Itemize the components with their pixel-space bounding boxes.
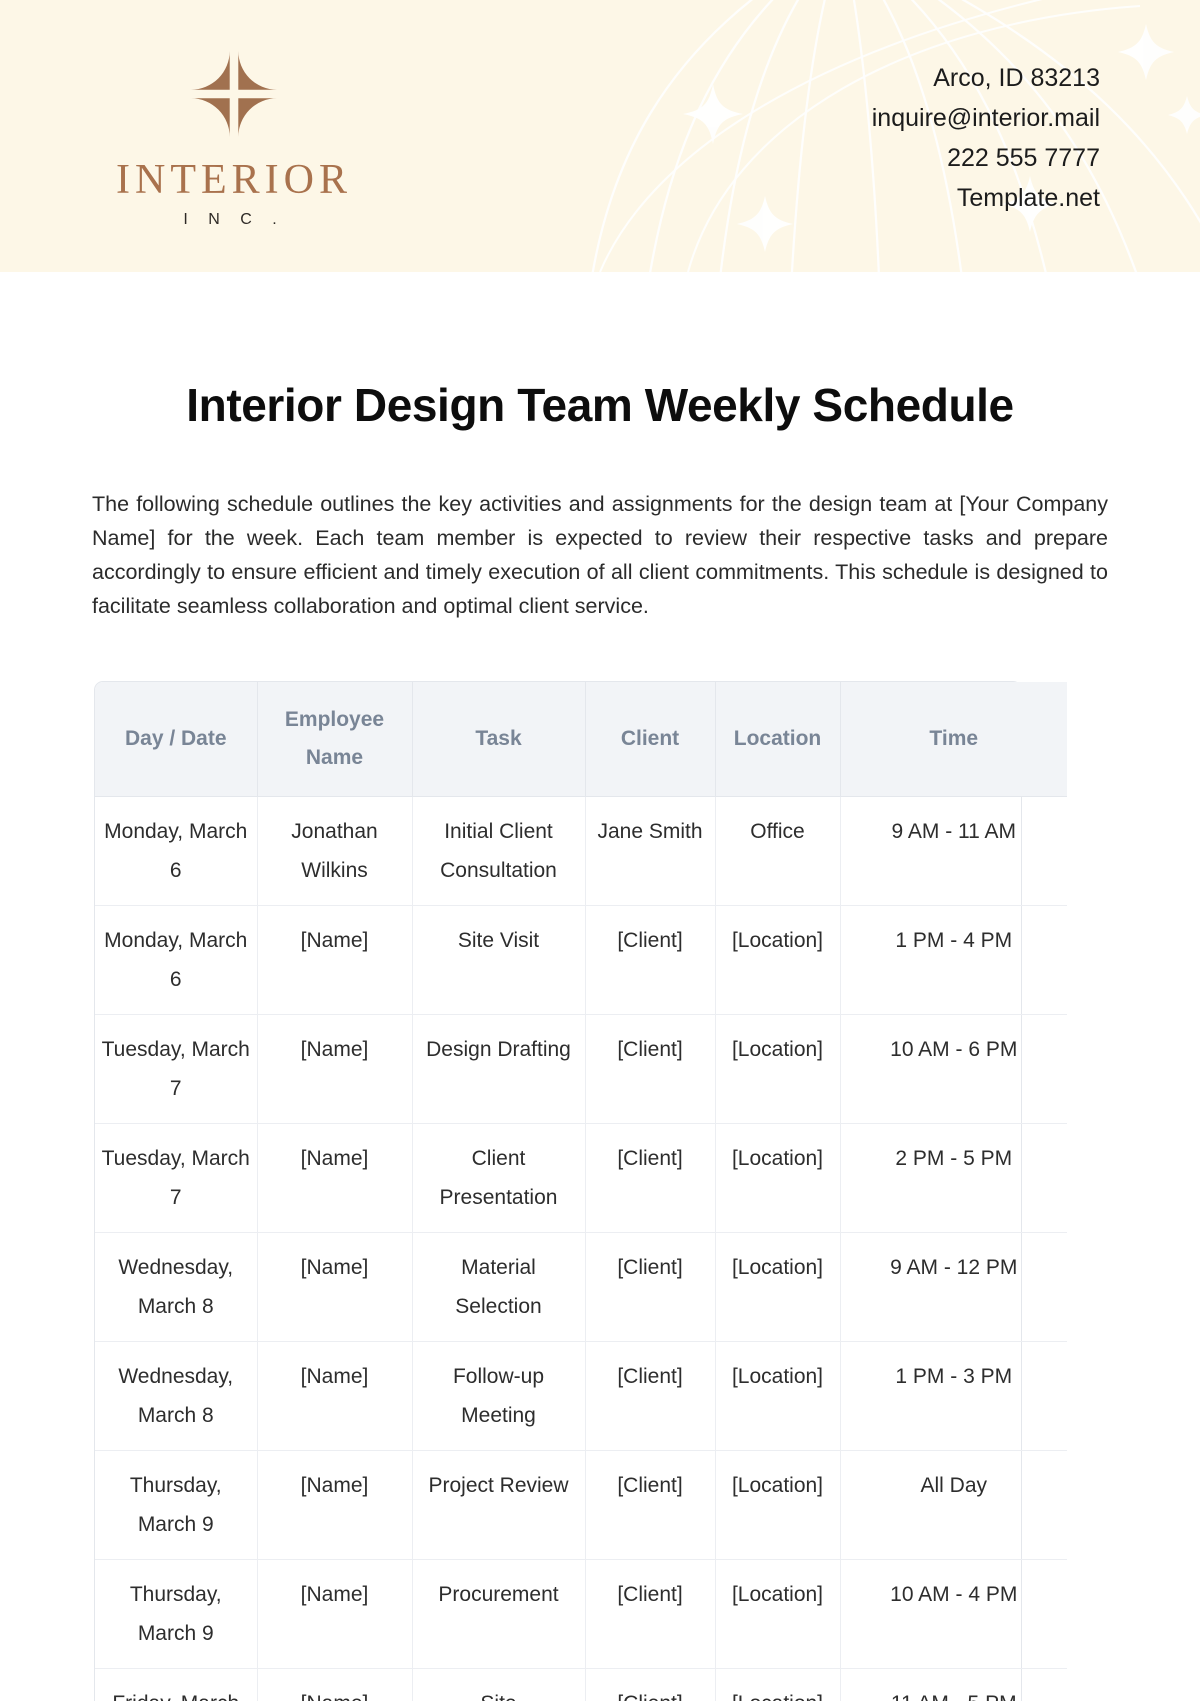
cell-day-date: Thursday, March 9 <box>95 1559 257 1668</box>
cell-task: Initial Client Consultation <box>412 796 585 905</box>
column-header-location[interactable]: Location <box>715 682 840 797</box>
cell-employee-name: [Name] <box>257 905 412 1014</box>
cell-location: [Location] <box>715 1668 840 1701</box>
schedule-table-header: Day / Date Employee Name Task Client Loc… <box>95 682 1067 797</box>
cell-task: Material Selection <box>412 1232 585 1341</box>
cell-day-date: Thursday, March 9 <box>95 1450 257 1559</box>
cell-client: Jane Smith <box>585 796 715 905</box>
column-header-employee-name[interactable]: Employee Name <box>257 682 412 797</box>
cell-client: [Client] <box>585 1559 715 1668</box>
cell-employee-name: [Name] <box>257 1668 412 1701</box>
cell-location: [Location] <box>715 1123 840 1232</box>
cell-employee-name: Jonathan Wilkins <box>257 796 412 905</box>
cell-day-date: Tuesday, March 7 <box>95 1014 257 1123</box>
document-body: Interior Design Team Weekly Schedule The… <box>0 380 1200 1701</box>
contact-website: Template.net <box>872 178 1100 218</box>
page-title: Interior Design Team Weekly Schedule <box>88 380 1112 432</box>
cell-employee-name: [Name] <box>257 1232 412 1341</box>
page-banner: INTERIOR I N C . Arco, ID 83213 inquire@… <box>0 0 1200 272</box>
cell-time: 1 PM - 3 PM <box>840 1341 1067 1450</box>
logo-subtext: I N C . <box>183 212 284 228</box>
cell-client: [Client] <box>585 1014 715 1123</box>
schedule-table: Day / Date Employee Name Task Client Loc… <box>95 682 1067 1701</box>
contact-block: Arco, ID 83213 inquire@interior.mail 222… <box>872 58 1100 218</box>
table-row[interactable]: Monday, March 6 [Name] Site Visit [Clien… <box>95 905 1067 1014</box>
table-row[interactable]: Thursday, March 9 [Name] Procurement [Cl… <box>95 1559 1067 1668</box>
cell-location: [Location] <box>715 1559 840 1668</box>
column-header-task[interactable]: Task <box>412 682 585 797</box>
column-header-client[interactable]: Client <box>585 682 715 797</box>
cell-day-date: Monday, March 6 <box>95 796 257 905</box>
column-header-day-date[interactable]: Day / Date <box>95 682 257 797</box>
cell-day-date: Wednesday, March 8 <box>95 1341 257 1450</box>
cell-time: 1 PM - 4 PM <box>840 905 1067 1014</box>
cell-day-date: Monday, March 6 <box>95 905 257 1014</box>
cell-task: Project Review <box>412 1450 585 1559</box>
cell-day-date: Friday, March <box>95 1668 257 1701</box>
cell-time: 9 AM - 12 PM <box>840 1232 1067 1341</box>
table-row[interactable]: Wednesday, March 8 [Name] Follow-up Meet… <box>95 1341 1067 1450</box>
table-row[interactable]: Friday, March [Name] Site [Client] [Loca… <box>95 1668 1067 1701</box>
cell-task: Procurement <box>412 1559 585 1668</box>
cell-employee-name: [Name] <box>257 1014 412 1123</box>
cell-task: Site Visit <box>412 905 585 1014</box>
cell-employee-name: [Name] <box>257 1123 412 1232</box>
cell-task: Site <box>412 1668 585 1701</box>
cell-client: [Client] <box>585 905 715 1014</box>
cell-day-date: Wednesday, March 8 <box>95 1232 257 1341</box>
schedule-table-body: Monday, March 6 Jonathan Wilkins Initial… <box>95 796 1067 1701</box>
cell-client: [Client] <box>585 1341 715 1450</box>
cell-employee-name: [Name] <box>257 1450 412 1559</box>
company-logo: INTERIOR I N C . <box>116 51 352 228</box>
table-row[interactable]: Tuesday, March 7 [Name] Client Presentat… <box>95 1123 1067 1232</box>
cell-time: 11 AM - 5 PM <box>840 1668 1067 1701</box>
cell-client: [Client] <box>585 1668 715 1701</box>
table-header-row: Day / Date Employee Name Task Client Loc… <box>95 682 1067 797</box>
contact-phone: 222 555 7777 <box>872 138 1100 178</box>
cell-employee-name: [Name] <box>257 1559 412 1668</box>
interior-inc-logo-mark-icon <box>191 51 277 137</box>
column-header-time[interactable]: Time <box>840 682 1067 797</box>
cell-time: 2 PM - 5 PM <box>840 1123 1067 1232</box>
cell-client: [Client] <box>585 1123 715 1232</box>
contact-email: inquire@interior.mail <box>872 98 1100 138</box>
cell-client: [Client] <box>585 1450 715 1559</box>
cell-location: [Location] <box>715 905 840 1014</box>
cell-client: [Client] <box>585 1232 715 1341</box>
banner-content: INTERIOR I N C . Arco, ID 83213 inquire@… <box>0 0 1200 272</box>
schedule-table-container: Day / Date Employee Name Task Client Loc… <box>94 681 1022 1701</box>
contact-address: Arco, ID 83213 <box>872 58 1100 98</box>
table-row[interactable]: Tuesday, March 7 [Name] Design Drafting … <box>95 1014 1067 1123</box>
cell-task: Client Presentation <box>412 1123 585 1232</box>
table-row[interactable]: Monday, March 6 Jonathan Wilkins Initial… <box>95 796 1067 905</box>
cell-employee-name: [Name] <box>257 1341 412 1450</box>
cell-task: Design Drafting <box>412 1014 585 1123</box>
cell-day-date: Tuesday, March 7 <box>95 1123 257 1232</box>
cell-time: 10 AM - 6 PM <box>840 1014 1067 1123</box>
cell-task: Follow-up Meeting <box>412 1341 585 1450</box>
intro-paragraph: The following schedule outlines the key … <box>92 487 1108 623</box>
table-row[interactable]: Wednesday, March 8 [Name] Material Selec… <box>95 1232 1067 1341</box>
cell-location: Office <box>715 796 840 905</box>
cell-time: 10 AM - 4 PM <box>840 1559 1067 1668</box>
cell-location: [Location] <box>715 1341 840 1450</box>
cell-location: [Location] <box>715 1232 840 1341</box>
table-row[interactable]: Thursday, March 9 [Name] Project Review … <box>95 1450 1067 1559</box>
logo-wordmark: INTERIOR <box>116 159 352 201</box>
cell-time: 9 AM - 11 AM <box>840 796 1067 905</box>
cell-location: [Location] <box>715 1014 840 1123</box>
cell-location: [Location] <box>715 1450 840 1559</box>
cell-time: All Day <box>840 1450 1067 1559</box>
